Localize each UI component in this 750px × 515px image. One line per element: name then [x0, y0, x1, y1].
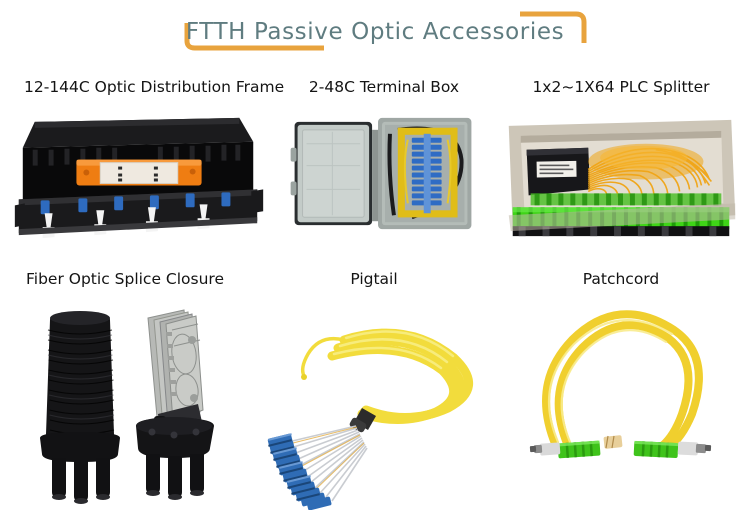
product-card-plc-splitter[interactable]: 1x2~1X64 PLC Splitter [496, 78, 746, 253]
product-label-terminal-box: 2-48C Terminal Box [272, 78, 496, 96]
yellow-cable-loop [546, 314, 699, 448]
connector-row-back [531, 193, 722, 205]
box-lid [291, 122, 372, 225]
banner: FTTH Passive Optic Accessories [0, 0, 750, 62]
corner-bracket-right-icon [520, 11, 590, 43]
optic-distribution-frame-photo [8, 104, 272, 253]
closed-dome [40, 311, 120, 504]
box-body [378, 118, 471, 229]
patchcord-photo [496, 296, 746, 510]
product-label-pigtail: Pigtail [258, 270, 490, 288]
product-card-patchcord[interactable]: Patchcord [496, 270, 746, 510]
product-label-patchcord: Patchcord [496, 270, 746, 288]
yellow-cable-coil [332, 333, 469, 419]
product-grid: 12-144C Optic Distribution Frame [0, 62, 750, 515]
product-label-plc-splitter: 1x2~1X64 PLC Splitter [496, 78, 746, 96]
product-card-terminal-box[interactable]: 2-48C Terminal Box [272, 78, 496, 253]
sc-apc-connector-left [530, 441, 601, 459]
splitter-module [527, 148, 591, 196]
sc-apc-connector-right [634, 441, 712, 458]
yellow-cable-highlight [549, 320, 672, 442]
product-label-odf: 12-144C Optic Distribution Frame [8, 78, 284, 96]
product-card-splice-closure[interactable]: Fiber Optic Splice Closure [8, 270, 258, 510]
opened-closure [136, 310, 214, 500]
product-card-pigtail[interactable]: Pigtail [258, 270, 490, 510]
splice-closure-photo [8, 296, 258, 510]
pigtail-photo [258, 296, 490, 510]
cable-clip [603, 435, 622, 449]
splice-tray [76, 160, 201, 186]
page-title: FTTH Passive Optic Accessories [0, 19, 750, 45]
catalog-page: FTTH Passive Optic Accessories 12-144C O… [0, 0, 750, 515]
plc-splitter-photo [496, 104, 746, 253]
product-card-odf[interactable]: 12-144C Optic Distribution Frame [8, 78, 272, 253]
product-label-splice-closure: Fiber Optic Splice Closure [8, 270, 224, 288]
terminal-box-photo [272, 104, 496, 253]
